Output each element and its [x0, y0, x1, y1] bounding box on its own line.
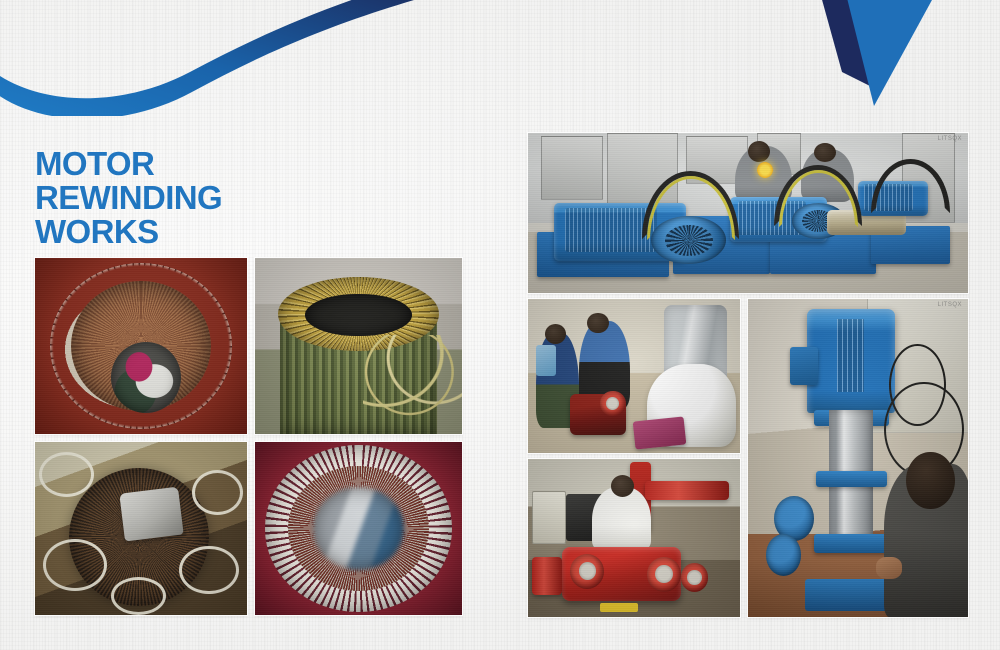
technician-figure — [592, 487, 651, 550]
pump-testbed-artwork — [528, 133, 968, 293]
photo-pump-workshop[interactable] — [528, 299, 740, 453]
pump-flange — [681, 563, 709, 591]
technician-hand — [876, 557, 902, 579]
pump-discharge-flange — [647, 557, 681, 592]
motor-terminal-box — [790, 347, 819, 385]
photo-vertical-multistage-pump[interactable]: LITSQX — [748, 299, 968, 617]
control-cabinet — [532, 491, 566, 545]
fire-pump-artwork — [528, 459, 740, 617]
red-pipe-segment — [532, 557, 562, 595]
wall-duct — [541, 136, 603, 200]
technician-head — [906, 452, 954, 509]
photo-pump-test-bed[interactable]: LITSQX — [528, 133, 968, 293]
power-cable — [889, 344, 946, 427]
pump-workshop-artwork — [528, 299, 740, 453]
motor-cooling-fins — [837, 319, 863, 392]
photo-watermark: LITSQX — [938, 136, 962, 142]
worker-head — [748, 141, 770, 162]
yellow-warning-tape — [600, 603, 638, 612]
right-photo-grid: LITSQX — [0, 0, 1000, 650]
pump-suction-flange — [570, 554, 604, 589]
pink-tool-case — [633, 417, 686, 450]
blue-glove — [536, 345, 555, 376]
sun-badge-overlay — [757, 162, 773, 178]
photo-watermark: LITSQX — [938, 302, 962, 308]
vertical-pump-artwork — [748, 299, 968, 617]
pump-mid-collar — [816, 471, 886, 487]
red-header-pipe — [645, 481, 730, 500]
technician-head — [611, 475, 634, 497]
pump-flange — [600, 391, 625, 416]
worker-head — [814, 143, 836, 162]
blue-vertical-motor — [807, 309, 895, 414]
worker-head — [587, 313, 608, 333]
worker-head — [545, 324, 566, 344]
photo-fire-pump[interactable] — [528, 459, 740, 617]
poster-page: MOTOR REWINDING WORKS — [0, 0, 1000, 650]
suction-flange — [766, 534, 801, 575]
pump-base-collar — [814, 534, 889, 553]
